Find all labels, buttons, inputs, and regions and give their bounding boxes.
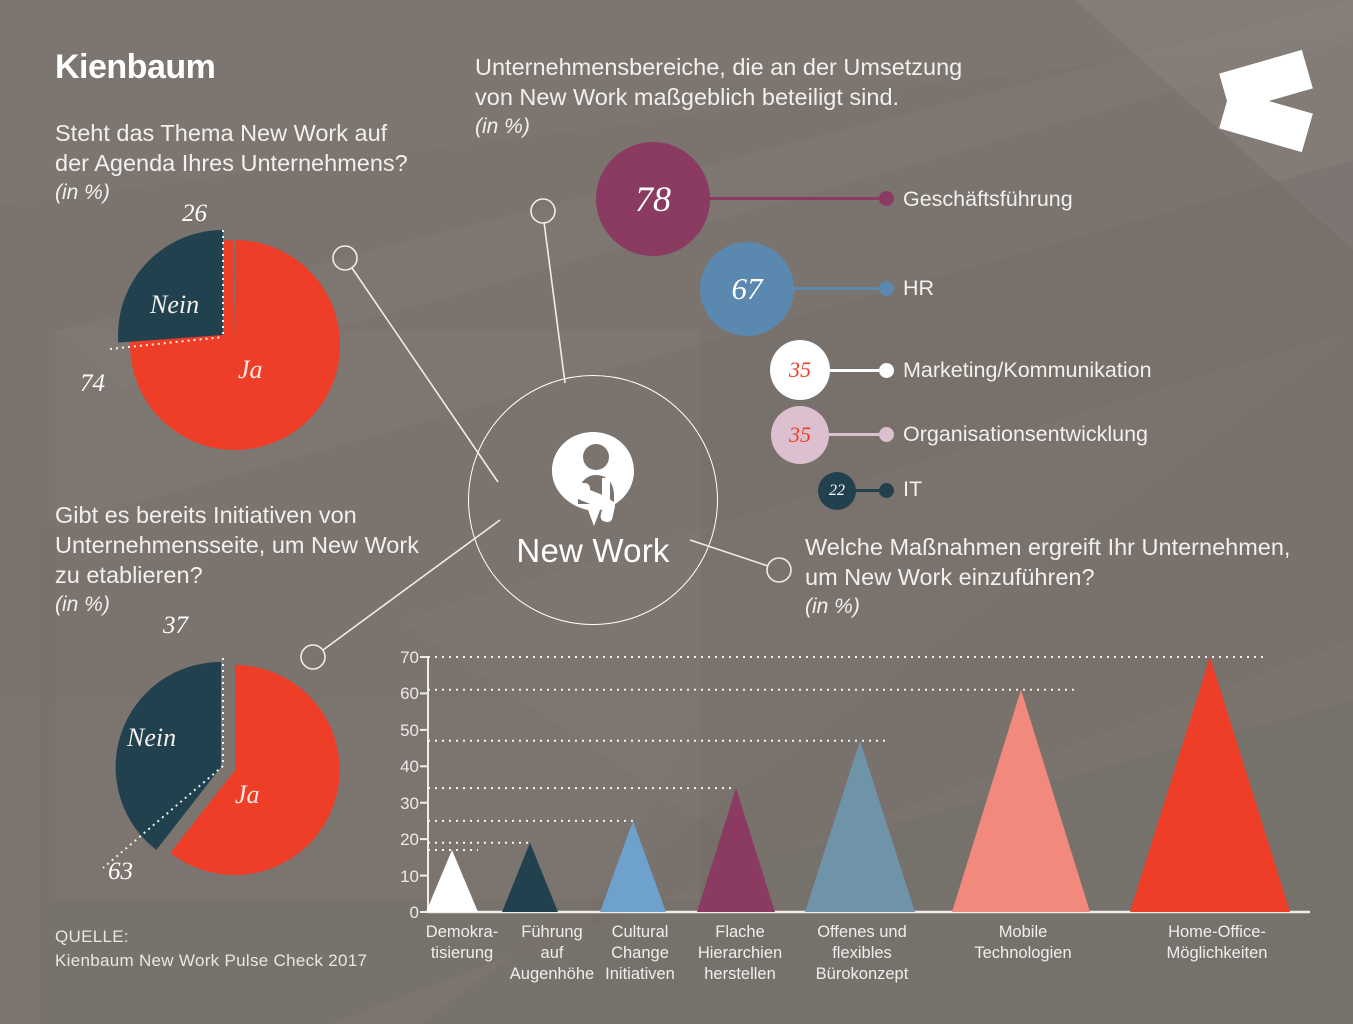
bar-4 [805, 741, 915, 912]
bar-3 [697, 788, 775, 912]
bar-0 [426, 850, 478, 912]
bar-6 [1130, 657, 1290, 912]
bar-1 [502, 843, 558, 912]
massnahmen-bar-chart [390, 645, 1325, 930]
bar-5 [952, 690, 1090, 912]
bar-2 [600, 821, 666, 912]
